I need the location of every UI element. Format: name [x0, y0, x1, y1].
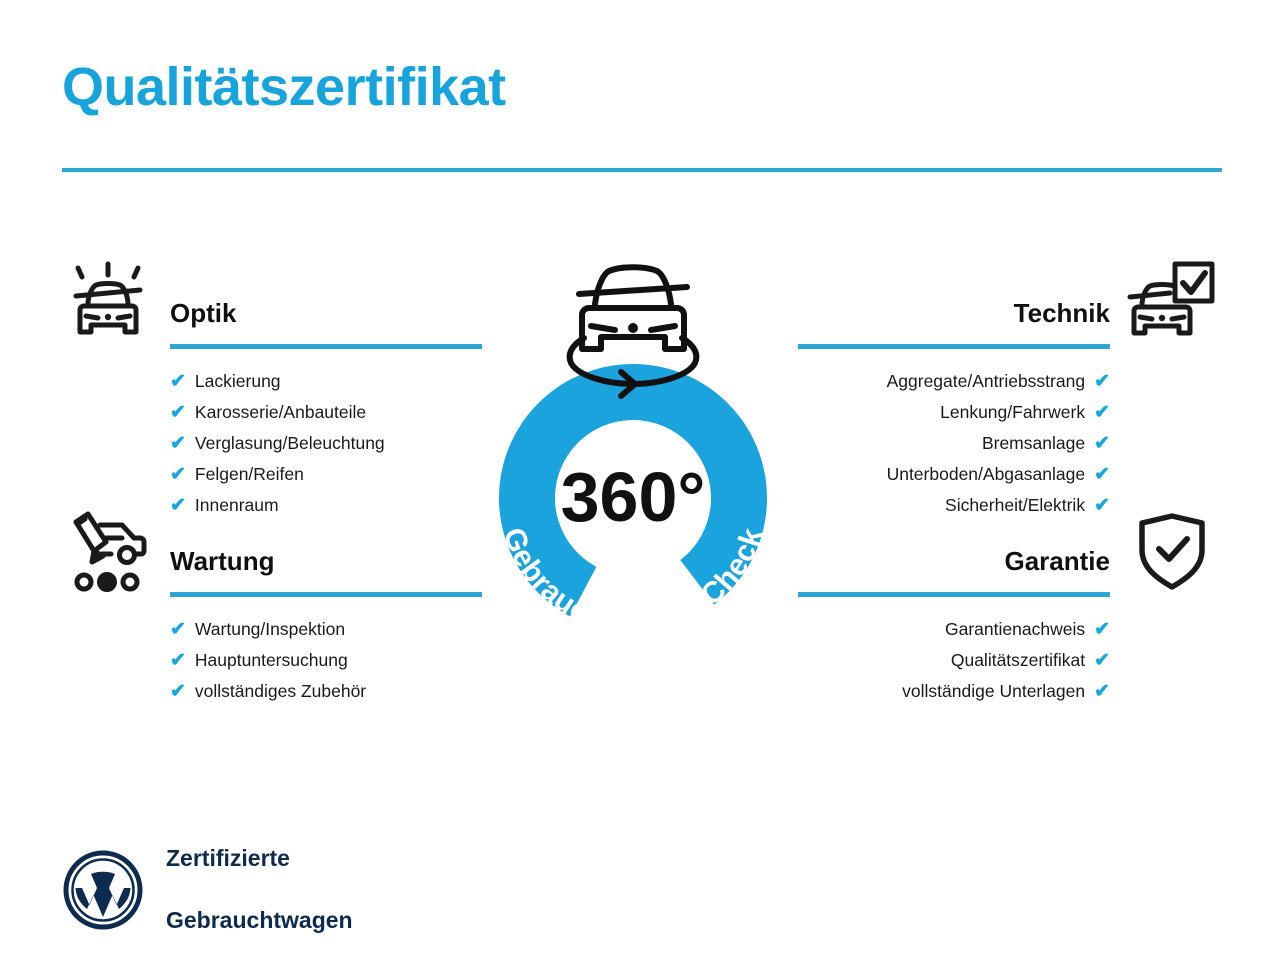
header-divider — [62, 168, 1222, 172]
list-item: ✔Lackierung — [170, 366, 482, 397]
list-item-label: Hauptuntersuchung — [195, 645, 348, 675]
list-item-label: Unterboden/Abgasanlage — [887, 459, 1086, 489]
list-item-label: Lackierung — [195, 366, 281, 396]
list-item-label: Aggregate/Antriebsstrang — [887, 366, 1085, 396]
list-item: Bremsanlage✔ — [798, 428, 1110, 459]
check-icon: ✔ — [170, 398, 186, 428]
section-optik-list: ✔Lackierung ✔Karosserie/Anbauteile ✔Verg… — [170, 366, 482, 521]
list-item-label: vollständige Unterlagen — [902, 676, 1085, 706]
list-item: ✔vollständiges Zubehör — [170, 676, 482, 707]
section-wartung-divider — [170, 592, 482, 597]
list-item-label: Felgen/Reifen — [195, 459, 304, 489]
section-optik: Optik ✔Lackierung ✔Karosserie/Anbauteile… — [62, 258, 482, 521]
section-technik-heading: Technik — [798, 258, 1110, 326]
check-icon: ✔ — [170, 460, 186, 490]
section-wartung-heading: Wartung — [170, 506, 482, 574]
check-icon: ✔ — [170, 429, 186, 459]
list-item: Qualitätszertifikat✔ — [798, 645, 1110, 676]
list-item: ✔Karosserie/Anbauteile — [170, 397, 482, 428]
list-item: ✔Felgen/Reifen — [170, 459, 482, 490]
check-icon: ✔ — [170, 615, 186, 645]
section-wartung-body: Wartung ✔Wartung/Inspektion ✔Hauptunters… — [170, 506, 482, 707]
list-item-label: Qualitätszertifikat — [951, 645, 1085, 675]
section-garantie-heading: Garantie — [798, 506, 1110, 574]
section-garantie-divider — [798, 592, 1110, 597]
list-item-label: Verglasung/Beleuchtung — [195, 428, 385, 458]
footer-brand: Zertifizierte Gebrauchtwagen — [62, 812, 353, 960]
volkswagen-logo — [62, 849, 144, 931]
section-wartung: Wartung ✔Wartung/Inspektion ✔Hauptunters… — [62, 506, 482, 707]
list-item-label: Bremsanlage — [982, 428, 1085, 458]
check-icon: ✔ — [1094, 429, 1110, 459]
list-item: vollständige Unterlagen✔ — [798, 676, 1110, 707]
section-optik-divider — [170, 344, 482, 349]
section-technik-list: Aggregate/Antriebsstrang✔ Lenkung/Fahrwe… — [798, 366, 1110, 521]
list-item-label: Garantienachweis — [945, 614, 1085, 644]
list-item: ✔Wartung/Inspektion — [170, 614, 482, 645]
list-item-label: Karosserie/Anbauteile — [195, 397, 366, 427]
check-icon: ✔ — [170, 646, 186, 676]
section-garantie: Garantie Garantienachweis✔ Qualitätszert… — [798, 506, 1218, 707]
car-checkbox-icon — [1126, 258, 1218, 350]
check-icon: ✔ — [1094, 460, 1110, 490]
section-technik: Technik Aggregate/Antriebsstrang✔ Lenkun… — [798, 258, 1218, 521]
footer-brand-line1: Zertifizierte — [166, 843, 353, 874]
footer-brand-text: Zertifizierte Gebrauchtwagen — [166, 812, 353, 960]
list-item: Aggregate/Antriebsstrang✔ — [798, 366, 1110, 397]
badge-center-label: 360° — [561, 458, 706, 536]
section-technik-divider — [798, 344, 1110, 349]
section-technik-body: Technik Aggregate/Antriebsstrang✔ Lenkun… — [798, 258, 1110, 521]
car-shine-icon — [62, 258, 154, 350]
footer-brand-line2: Gebrauchtwagen — [166, 905, 353, 936]
check-icon: ✔ — [1094, 646, 1110, 676]
list-item: ✔Verglasung/Beleuchtung — [170, 428, 482, 459]
section-garantie-list: Garantienachweis✔ Qualitätszertifikat✔ v… — [798, 614, 1110, 707]
page-title: Qualitätszertifikat — [62, 58, 506, 117]
check-icon: ✔ — [1094, 615, 1110, 645]
check-icon: ✔ — [1094, 367, 1110, 397]
list-item: ✔Hauptuntersuchung — [170, 645, 482, 676]
check-icon: ✔ — [170, 367, 186, 397]
list-item: Lenkung/Fahrwerk✔ — [798, 397, 1110, 428]
shield-check-icon — [1126, 506, 1218, 598]
section-optik-body: Optik ✔Lackierung ✔Karosserie/Anbauteile… — [170, 258, 482, 521]
pen-car-service-icon — [62, 506, 154, 598]
check-icon: ✔ — [1094, 398, 1110, 428]
quality-certificate-page: Qualitätszertifikat Optik ✔Lackierung ✔K… — [0, 0, 1280, 960]
check-icon: ✔ — [170, 677, 186, 707]
list-item: Garantienachweis✔ — [798, 614, 1110, 645]
list-item-label: Lenkung/Fahrwerk — [940, 397, 1085, 427]
section-garantie-body: Garantie Garantienachweis✔ Qualitätszert… — [798, 506, 1110, 707]
list-item-label: vollständiges Zubehör — [195, 676, 366, 706]
section-optik-heading: Optik — [170, 258, 482, 326]
list-item: Unterboden/Abgasanlage✔ — [798, 459, 1110, 490]
check-icon: ✔ — [1094, 677, 1110, 707]
section-wartung-list: ✔Wartung/Inspektion ✔Hauptuntersuchung ✔… — [170, 614, 482, 707]
gebrauchtwagen-check-badge: Gebrauchtwagen-Check 360° — [455, 246, 811, 658]
list-item-label: Wartung/Inspektion — [195, 614, 345, 644]
